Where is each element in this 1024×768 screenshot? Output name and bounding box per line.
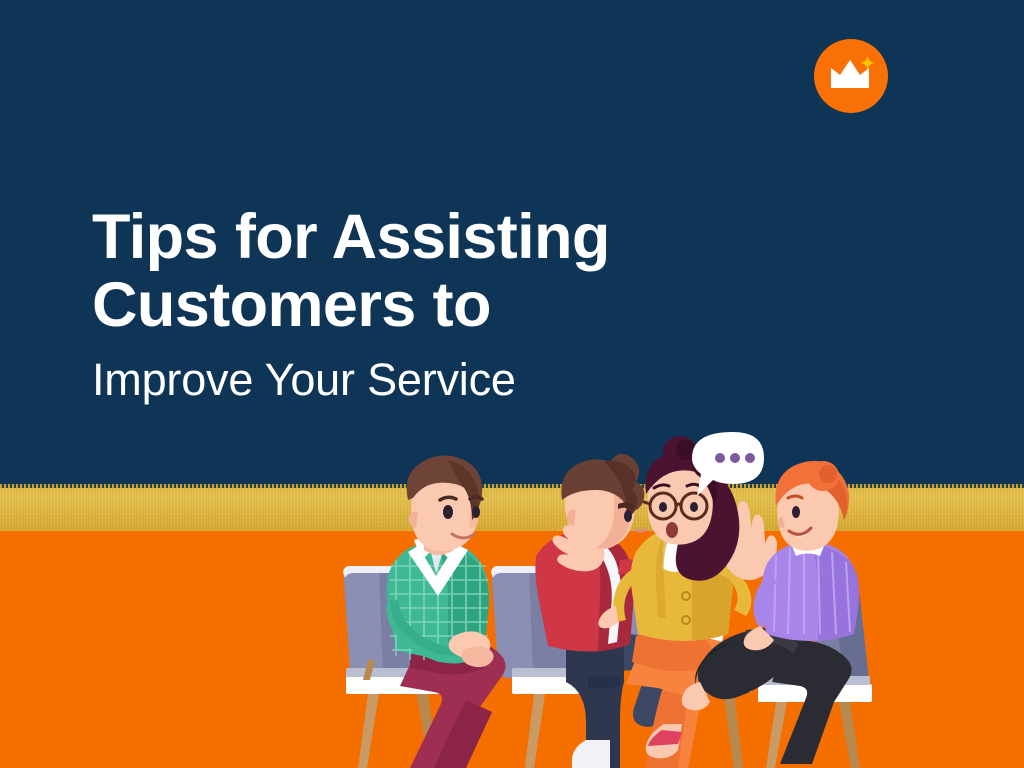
crown-icon [814, 39, 888, 113]
title-line-2: Customers to [92, 270, 491, 340]
page-subtitle: Improve Your Service [92, 352, 792, 408]
background-band-gold [0, 484, 1024, 531]
page-title: Tips for Assisting Customers to [92, 203, 792, 339]
background-band-orange [0, 531, 1024, 768]
background-band-gold-fringe [0, 484, 1024, 488]
headline-block: Tips for Assisting Customers to Improve … [92, 203, 792, 408]
presentation-slide: Tips for Assisting Customers to Improve … [0, 0, 1024, 768]
title-line-1: Tips for Assisting [92, 202, 610, 272]
crown-logo[interactable] [814, 39, 888, 113]
